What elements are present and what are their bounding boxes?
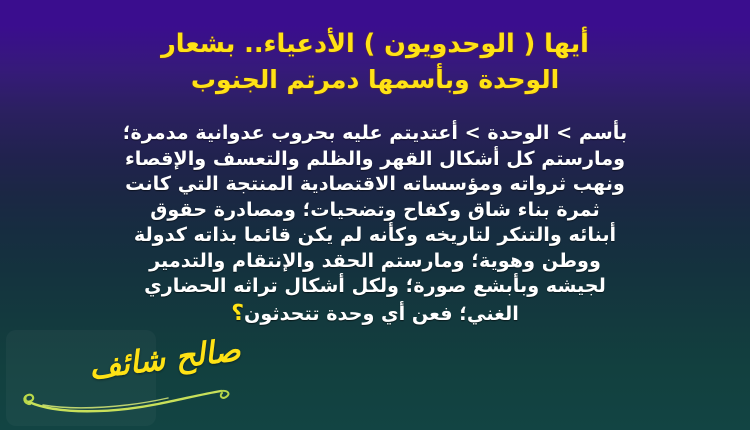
body-line-1: بأسم > الوحدة > أعتديتم عليه بحروب عدوان…: [8, 120, 742, 146]
poster-canvas: أيها ( الوحدويون ) الأدعياء.. بشعار الوح…: [0, 0, 750, 430]
body-line-7: لجيشه وبأبشع صورة؛ ولكل أشكال تراثه الحض…: [8, 273, 742, 299]
body-line-2: ومارستم كل أشكال القهر والظلم والتعسف وا…: [8, 146, 742, 172]
body-line-8-text: الغني؛ فعن أي وحدة تتحدثون: [244, 302, 519, 325]
body-line-8: الغني؛ فعن أي وحدة تتحدثون؟: [8, 299, 742, 328]
body-line-5: أبنائه والتنكر لتاريخه وكأنه لم يكن قائم…: [8, 222, 742, 248]
heading-line-2: الوحدة وبأسمها دمرتم الجنوب: [14, 62, 736, 98]
signature-block: صالح شائف: [18, 330, 248, 416]
question-mark: ؟: [231, 301, 244, 326]
signature-name: صالح شائف: [87, 332, 242, 386]
body-line-3: ونهب ثرواته ومؤسساته الاقتصادية المنتجة …: [8, 171, 742, 197]
body-paragraph: بأسم > الوحدة > أعتديتم عليه بحروب عدوان…: [0, 120, 750, 328]
body-line-6: ووطن وهوية؛ ومارستم الحقد والإنتقام والت…: [8, 248, 742, 274]
page-title: أيها ( الوحدويون ) الأدعياء.. بشعار الوح…: [0, 26, 750, 98]
flourish-icon: [18, 382, 233, 416]
body-line-4: ثمرة بناء شاق وكفاح وتضحيات؛ ومصادرة حقو…: [8, 197, 742, 223]
heading-line-1: أيها ( الوحدويون ) الأدعياء.. بشعار: [14, 26, 736, 62]
